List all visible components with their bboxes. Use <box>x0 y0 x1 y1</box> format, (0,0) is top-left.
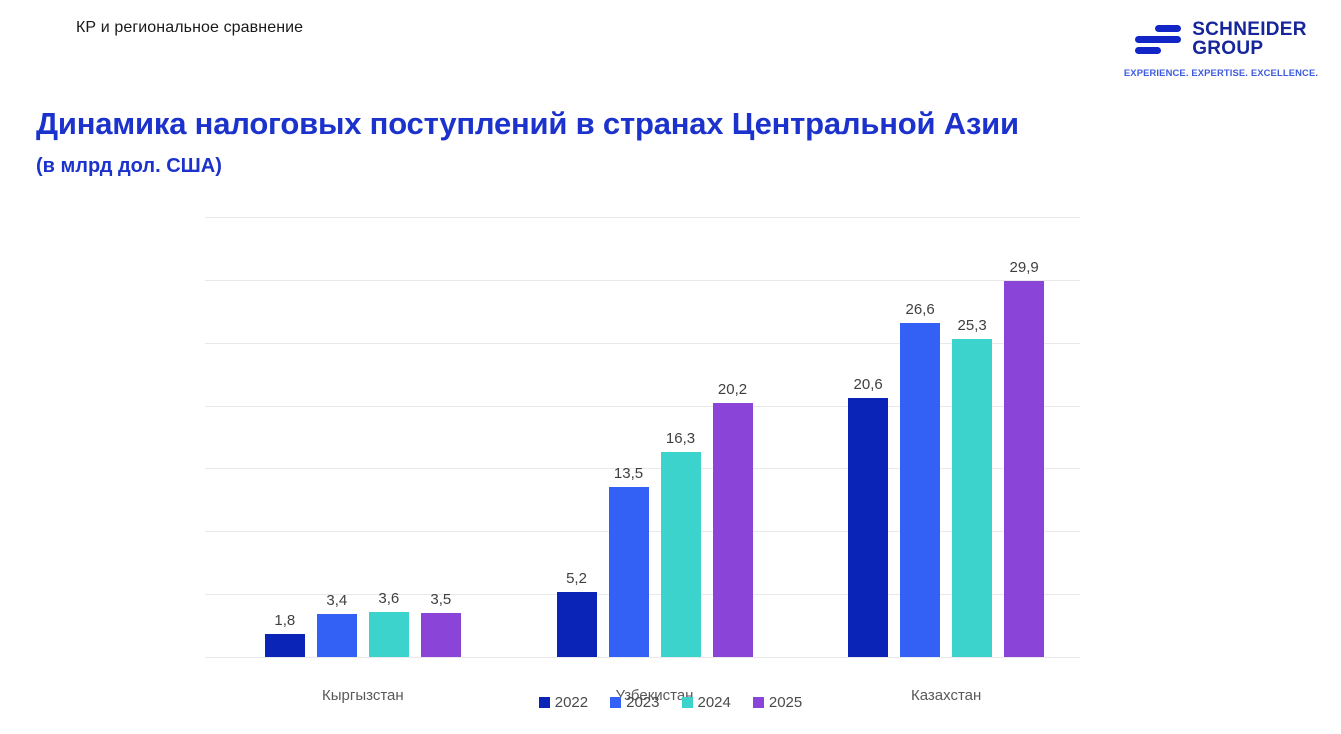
legend-swatch <box>610 697 621 708</box>
schneider-bars-icon <box>1135 22 1181 56</box>
legend-swatch <box>539 697 550 708</box>
bar-value-label: 13,5 <box>593 465 665 482</box>
gridline <box>205 657 1080 658</box>
page-title: Динамика налоговых поступлений в странах… <box>36 106 1019 142</box>
plot-area: 051015202530351,83,43,63,5Кыргызстан5,21… <box>205 217 1080 657</box>
bar-fill <box>713 403 753 657</box>
bar-group: 1,83,43,63,5 <box>265 217 461 657</box>
bar-fill <box>609 487 649 657</box>
legend-swatch <box>682 697 693 708</box>
logo-line-1: SCHNEIDER <box>1192 19 1307 40</box>
schneider-group-logo: SCHNEIDER GROUP EXPERIENCE. EXPERTISE. E… <box>1123 20 1319 78</box>
bar-fill <box>900 323 940 657</box>
bar-fill <box>369 612 409 657</box>
bar-value-label: 25,3 <box>936 317 1008 334</box>
bar-value-label: 5,2 <box>541 570 613 587</box>
bar-value-label: 26,6 <box>884 301 956 318</box>
bar-group: 20,626,625,329,9 <box>848 217 1044 657</box>
legend-label: 2024 <box>698 694 731 711</box>
logo-wordmark: SCHNEIDER GROUP <box>1192 20 1307 59</box>
bar-value-label: 20,6 <box>832 376 904 393</box>
bar-fill <box>952 339 992 657</box>
legend-label: 2022 <box>555 694 588 711</box>
bar-fill <box>1004 281 1044 657</box>
bar-value-label: 1,8 <box>249 612 321 629</box>
legend-item[interactable]: 2024 <box>682 694 731 711</box>
bar-value-label: 29,9 <box>988 259 1060 276</box>
chart-legend: 2022202320242025 <box>0 694 1341 711</box>
bar-fill <box>848 398 888 657</box>
logo-line-2: GROUP <box>1192 38 1263 59</box>
legend-label: 2025 <box>769 694 802 711</box>
legend-item[interactable]: 2025 <box>753 694 802 711</box>
bar-fill <box>557 592 597 657</box>
bar-group: 5,213,516,320,2 <box>557 217 753 657</box>
legend-item[interactable]: 2022 <box>539 694 588 711</box>
logo-row: SCHNEIDER GROUP <box>1135 20 1307 59</box>
page-subtitle: (в млрд дол. США) <box>36 155 222 178</box>
slide-root: КР и региональное сравнение SCHNEIDER GR… <box>0 0 1341 734</box>
bar-fill <box>317 614 357 657</box>
bar-fill <box>265 634 305 657</box>
logo-tagline: EXPERIENCE. EXPERTISE. EXCELLENCE. <box>1124 67 1318 78</box>
bar-value-label: 3,5 <box>405 591 477 608</box>
bar-fill <box>661 452 701 657</box>
legend-item[interactable]: 2023 <box>610 694 659 711</box>
bar-chart: 051015202530351,83,43,63,5Кыргызстан5,21… <box>0 200 1341 734</box>
legend-label: 2023 <box>626 694 659 711</box>
bar-value-label: 20,2 <box>697 381 769 398</box>
bar-value-label: 16,3 <box>645 430 717 447</box>
bar-fill <box>421 613 461 657</box>
legend-swatch <box>753 697 764 708</box>
eyebrow-text: КР и региональное сравнение <box>76 19 303 37</box>
